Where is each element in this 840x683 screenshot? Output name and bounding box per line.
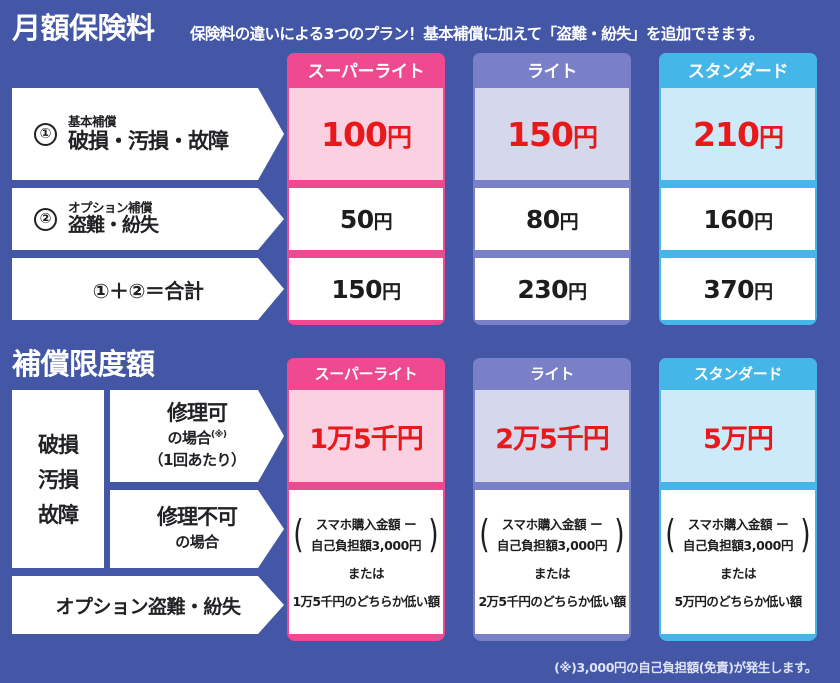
left-paren-icon: ( xyxy=(479,518,489,550)
price-option-light: 80円 xyxy=(475,188,629,250)
damage-line-1: 破損 xyxy=(38,429,78,459)
price-unit: 円 xyxy=(568,281,587,303)
row-label-repairable: 修理可 の場合(※) （1回あたり） xyxy=(110,390,284,482)
section1-subtitle: 保険料の違いによる3つのプラン！基本補償に加えて「盗難・紛失」を追加できます。 xyxy=(190,22,764,44)
price-unit: 円 xyxy=(759,123,783,152)
price-value: 80 xyxy=(526,205,560,234)
tab-plan-light-s1[interactable]: ライト xyxy=(473,53,631,86)
row-label-total-text: ①＋②＝合計 xyxy=(93,275,204,304)
limit-formula-super-light: ( スマホ購入金額 ー 自己負担額3,000円 ) または 1万5千円のどちらか… xyxy=(289,490,443,634)
price-value: 210 xyxy=(693,115,759,154)
row-label-option-small: オプション補償 xyxy=(68,201,158,215)
damage-type-label: 破損 汚損 故障 xyxy=(12,390,104,568)
footnote-text: (※)3,000円の自己負担額(免責)が発生します。 xyxy=(455,657,817,676)
not-repairable-sub1: の場合 xyxy=(175,531,219,552)
price-unit: 円 xyxy=(382,281,401,303)
formula-or: または xyxy=(720,563,756,582)
price-total-super-light: 150円 xyxy=(289,258,443,320)
damage-line-2: 汚損 xyxy=(38,464,78,494)
price-unit: 円 xyxy=(754,281,773,303)
limit-formula-standard: ( スマホ購入金額 ー 自己負担額3,000円 ) または 5万円のどちらか低い… xyxy=(661,490,815,634)
row-label-not-repairable: 修理不可 の場合 xyxy=(110,490,284,568)
row-number-2: ② xyxy=(34,208,57,231)
formula-paren-group: ( スマホ購入金額 ー 自己負担額3,000円 ) xyxy=(291,514,441,554)
not-repairable-title: 修理不可 xyxy=(157,506,237,529)
formula-line-1: スマホ購入金額 ー xyxy=(497,514,607,533)
price-unit: 円 xyxy=(387,123,411,152)
price-option-standard: 160円 xyxy=(661,188,815,250)
formula-or: または xyxy=(348,563,384,582)
row-label-total: ①＋②＝合計 xyxy=(12,258,284,320)
formula-line-2: 自己負担額3,000円 xyxy=(311,535,421,554)
price-value: 100 xyxy=(321,115,387,154)
price-value: 370 xyxy=(703,275,754,304)
row-label-basic-small: 基本補償 xyxy=(68,115,228,129)
price-unit: 円 xyxy=(754,211,773,233)
insurance-pricing-infographic: 月額保険料 保険料の違いによる3つのプラン！基本補償に加えて「盗難・紛失」を追加… xyxy=(0,0,840,683)
row-number-1: ① xyxy=(34,123,57,146)
formula-or: または xyxy=(534,563,570,582)
repairable-sub1-text: の場合 xyxy=(168,429,212,447)
price-basic-standard: 210円 xyxy=(661,88,815,180)
row-label-basic-coverage: ① 基本補償 破損・汚損・故障 xyxy=(12,88,284,180)
formula-bottom: 2万5千円のどちらか低い額 xyxy=(478,591,625,610)
tab-plan-super-light-s1[interactable]: スーパーライト xyxy=(287,53,445,86)
price-unit: 円 xyxy=(560,211,579,233)
price-value: 50 xyxy=(340,205,374,234)
tab-plan-standard-s2[interactable]: スタンダード xyxy=(659,358,817,388)
limit-value: 1万5千円 xyxy=(309,417,423,456)
price-total-standard: 370円 xyxy=(661,258,815,320)
formula-line-1: スマホ購入金額 ー xyxy=(683,514,793,533)
formula-line-2: 自己負担額3,000円 xyxy=(683,535,793,554)
damage-line-3: 故障 xyxy=(38,499,78,529)
limit-formula-light: ( スマホ購入金額 ー 自己負担額3,000円 ) または 2万5千円のどちらか… xyxy=(475,490,629,634)
price-unit: 円 xyxy=(573,123,597,152)
repairable-sub1: の場合(※) xyxy=(168,427,227,448)
formula-paren-group: ( スマホ購入金額 ー 自己負担額3,000円 ) xyxy=(477,514,627,554)
price-basic-super-light: 100円 xyxy=(289,88,443,180)
footnote-mark: (※) xyxy=(211,430,226,440)
tab-plan-standard-s1[interactable]: スタンダード xyxy=(659,53,817,86)
left-paren-icon: ( xyxy=(665,518,675,550)
price-value: 160 xyxy=(703,205,754,234)
limit-repairable-standard: 5万円 xyxy=(661,390,815,482)
limit-value: 5万円 xyxy=(703,417,773,456)
formula-paren-group: ( スマホ購入金額 ー 自己負担額3,000円 ) xyxy=(663,514,813,554)
limit-repairable-super-light: 1万5千円 xyxy=(289,390,443,482)
row-label-option-coverage: ② オプション補償 盗難・紛失 xyxy=(12,188,284,250)
right-paren-icon: ) xyxy=(428,518,438,550)
limit-repairable-light: 2万5千円 xyxy=(475,390,629,482)
price-value: 230 xyxy=(517,275,568,304)
row-label-basic-big: 破損・汚損・故障 xyxy=(68,129,228,153)
price-unit: 円 xyxy=(374,211,393,233)
price-option-super-light: 50円 xyxy=(289,188,443,250)
price-total-light: 230円 xyxy=(475,258,629,320)
section2-title: 補償限度額 xyxy=(12,350,155,379)
tab-plan-light-s2[interactable]: ライト xyxy=(473,358,631,388)
price-basic-light: 150円 xyxy=(475,88,629,180)
option-theft-text: オプション盗難・紛失 xyxy=(55,592,240,619)
row-label-option-big: 盗難・紛失 xyxy=(68,215,158,237)
formula-bottom: 1万5千円のどちらか低い額 xyxy=(292,591,439,610)
price-value: 150 xyxy=(507,115,573,154)
formula-line-2: 自己負担額3,000円 xyxy=(497,535,607,554)
formula-line-1: スマホ購入金額 ー xyxy=(311,514,421,533)
repairable-title: 修理可 xyxy=(167,402,227,425)
repairable-sub2: （1回あたり） xyxy=(149,449,246,470)
price-value: 150 xyxy=(331,275,382,304)
left-paren-icon: ( xyxy=(293,518,303,550)
row-label-option-theft: オプション盗難・紛失 xyxy=(12,576,284,634)
right-paren-icon: ) xyxy=(800,518,810,550)
section1-title: 月額保険料 xyxy=(12,14,155,43)
formula-bottom: 5万円のどちらか低い額 xyxy=(674,591,801,610)
limit-value: 2万5千円 xyxy=(495,417,609,456)
right-paren-icon: ) xyxy=(614,518,624,550)
tab-plan-super-light-s2[interactable]: スーパーライト xyxy=(287,358,445,388)
